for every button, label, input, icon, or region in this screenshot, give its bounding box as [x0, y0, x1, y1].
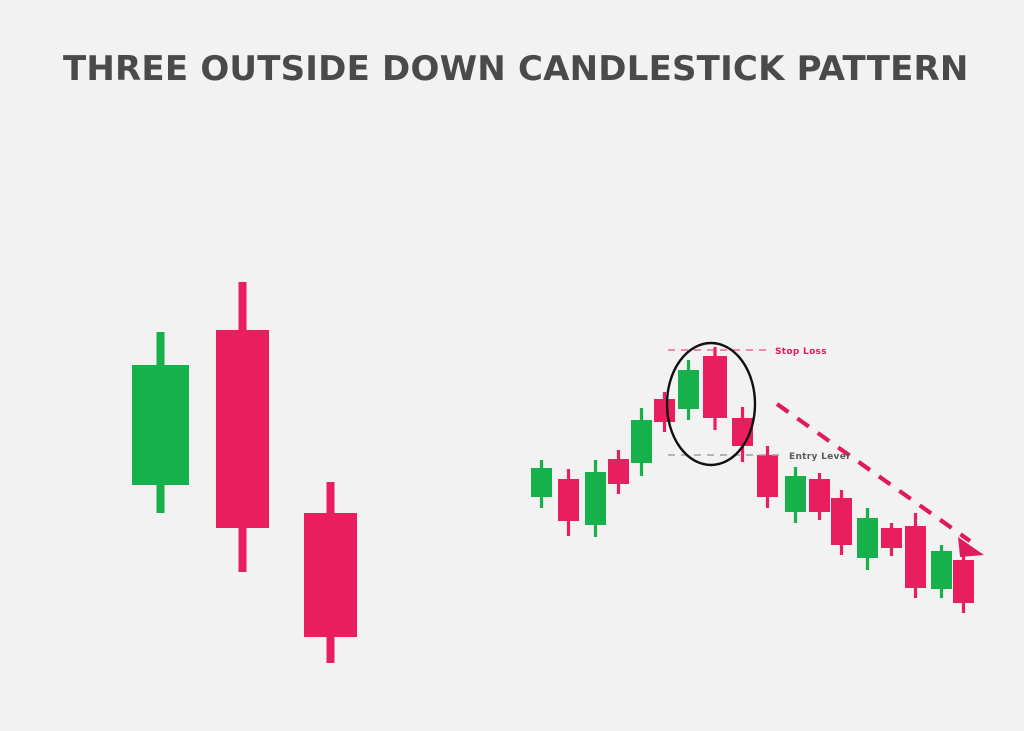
stop-loss-label: Stop Loss [775, 347, 827, 357]
candle-body [831, 498, 852, 545]
candle-body [631, 420, 652, 463]
candle-body [931, 551, 952, 589]
candle-body [216, 330, 269, 528]
candlestick-bullish [531, 460, 552, 508]
candlestick-bullish [857, 508, 878, 570]
candlestick-bullish [931, 545, 952, 598]
candle-body [857, 518, 878, 558]
candle-body [703, 356, 727, 418]
candlestick-chart-svg [0, 0, 1024, 731]
candle-body [953, 560, 974, 603]
candlestick-bearish [304, 482, 357, 663]
candlestick-bullish [585, 460, 606, 537]
candlestick-bearish [831, 490, 852, 555]
candle-body [757, 455, 778, 497]
candlestick-bearish [953, 548, 974, 613]
candle-body [531, 468, 552, 497]
candle-body [905, 526, 926, 588]
candlestick-bearish [703, 347, 727, 430]
candle-body [304, 513, 357, 637]
candle-body [881, 528, 902, 548]
candle-body [678, 370, 699, 409]
candlestick-bullish [132, 332, 189, 513]
candlestick-bearish [809, 473, 830, 520]
candlestick-bearish [608, 450, 629, 494]
entry-level-label: Entry Level [789, 452, 850, 462]
candlestick-bullish [678, 360, 699, 420]
candle-body [132, 365, 189, 485]
candle-body [585, 472, 606, 525]
trend-arrow-head [958, 537, 984, 557]
pattern-detail-candles [132, 282, 357, 663]
candle-body [608, 459, 629, 484]
candle-body [558, 479, 579, 521]
candlestick-bearish [905, 513, 926, 598]
candlestick-bullish [785, 467, 806, 523]
candlestick-bearish [216, 282, 269, 572]
infographic-canvas: THREE OUTSIDE DOWN CANDLESTICK PATTERN S… [0, 0, 1024, 731]
candlestick-bearish [558, 469, 579, 536]
candlestick-bullish [631, 408, 652, 476]
candle-body [785, 476, 806, 512]
candlestick-bearish [654, 392, 675, 432]
candle-body [809, 479, 830, 512]
candlestick-bearish [881, 523, 902, 556]
candle-body [654, 399, 675, 422]
